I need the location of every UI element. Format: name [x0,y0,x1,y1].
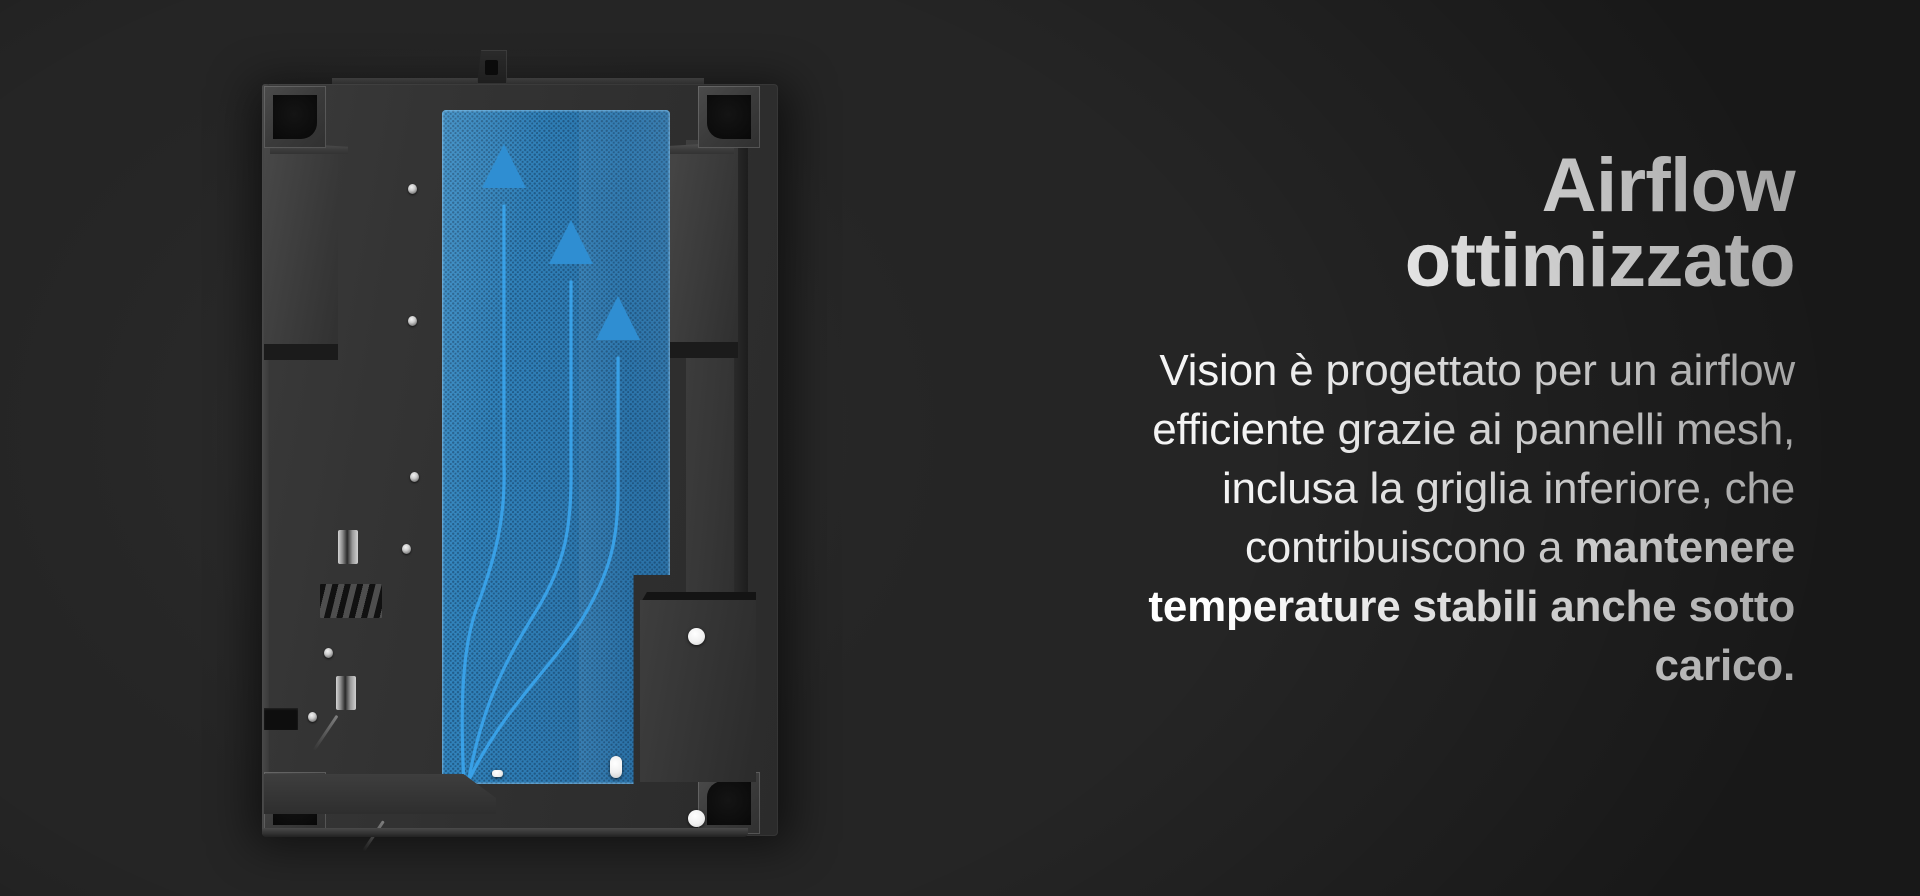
case-screw [408,184,417,194]
feature-heading-line-1: Airflow [1542,143,1795,228]
case-screw [308,712,317,722]
case-indicator-pin [610,756,622,778]
case-screw [402,544,411,554]
case-corner-block-top-left [264,86,326,148]
case-base-edge [262,828,748,837]
feature-copy-block: Airflow ottimizzato Vision è progettato … [1119,148,1795,696]
case-standoff-stud [688,810,705,827]
airflow-feature-section: Pannello laterale in mesh del case Visio… [0,0,1920,896]
case-bottom-ledge [264,774,496,814]
case-top-latch-slot [485,60,498,75]
case-screw [408,316,417,326]
case-small-stud [492,770,503,777]
case-screw [410,472,419,482]
product-image-vision-case: Pannello laterale in mesh del case Visio… [246,80,796,848]
feature-body-text: Vision è progettato per un airflow effic… [1119,342,1795,696]
case-standoff-stud [688,628,705,645]
feature-heading: Airflow ottimizzato [1119,148,1795,298]
case-shoulder-right [666,148,738,344]
case-retention-clip [336,676,356,710]
case-vent-slot [320,584,382,618]
case-cutout [264,708,298,730]
case-shoulder-left [264,148,338,346]
case-corner-block-top-right [698,86,760,148]
feature-heading-line-2: ottimizzato [1405,218,1795,303]
case-screw [324,648,333,658]
case-retention-clip [338,530,358,564]
